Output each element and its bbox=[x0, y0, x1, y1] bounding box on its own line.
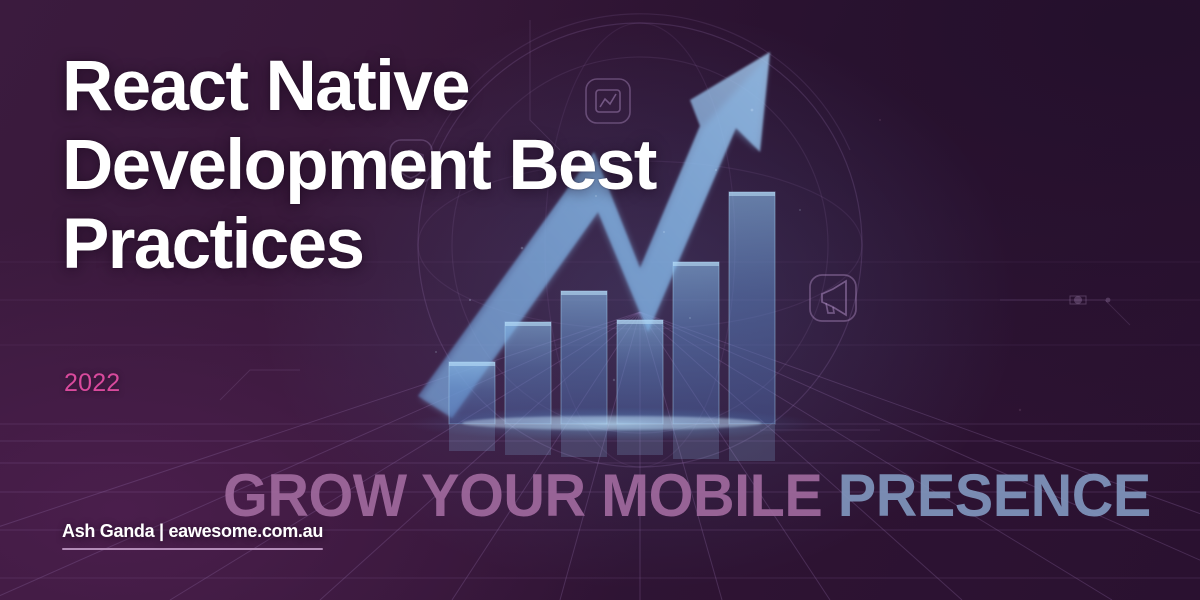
byline-underline bbox=[62, 548, 323, 550]
tagline-part-one: GROW YOUR MOBILE bbox=[223, 462, 838, 529]
banner-content: React Native Development Best Practices … bbox=[0, 0, 1200, 600]
page-title: React Native Development Best Practices bbox=[62, 47, 742, 284]
byline[interactable]: Ash Ganda | eawesome.com.au bbox=[62, 521, 323, 550]
social-banner: React Native Development Best Practices … bbox=[0, 0, 1200, 600]
byline-text[interactable]: Ash Ganda | eawesome.com.au bbox=[62, 521, 323, 547]
year-label: 2022 bbox=[64, 369, 120, 398]
tagline: GROW YOUR MOBILE PRESENCE bbox=[223, 466, 1151, 526]
tagline-part-two: PRESENCE bbox=[838, 462, 1151, 529]
